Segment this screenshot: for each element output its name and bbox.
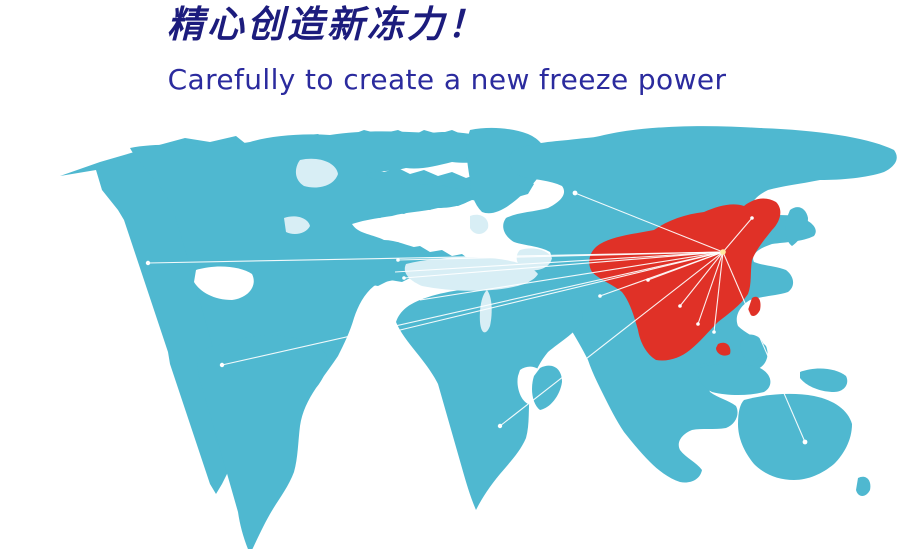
endpoint-australia bbox=[803, 440, 808, 445]
endpoint-southern-africa bbox=[498, 424, 502, 428]
landmass-japan bbox=[785, 207, 808, 246]
endpoint-southeast-asia bbox=[678, 304, 682, 308]
endpoint-west-africa bbox=[394, 329, 398, 333]
hub-marker-china bbox=[720, 249, 726, 255]
landmass-australia bbox=[738, 394, 852, 480]
map-continents-detail bbox=[130, 126, 897, 549]
endpoint-indonesia bbox=[712, 330, 716, 334]
endpoint-mediterranean bbox=[402, 276, 406, 280]
endpoint-north-america bbox=[146, 261, 150, 265]
endpoint-south-asia bbox=[646, 278, 650, 282]
endpoint-western-europe bbox=[396, 258, 400, 262]
landmass-new-guinea bbox=[800, 369, 847, 392]
inland-sea-baltic bbox=[470, 215, 488, 234]
endpoint-central-asia bbox=[573, 191, 578, 196]
landmass-indonesia bbox=[699, 364, 771, 396]
page-title-chinese: 精心创造新冻力！ bbox=[0, 2, 777, 48]
endpoint-south-america bbox=[220, 363, 224, 367]
endpoint-middle-east bbox=[598, 294, 602, 298]
page-subtitle-english: Carefully to create a new freeze power bbox=[0, 62, 897, 98]
landmass-new-zealand bbox=[856, 477, 870, 496]
world-map bbox=[0, 100, 900, 549]
banner: 精心创造新冻力！ Carefully to create a new freez… bbox=[0, 0, 900, 549]
endpoint-indochina bbox=[696, 322, 700, 326]
endpoint-japan-korea bbox=[750, 216, 754, 220]
